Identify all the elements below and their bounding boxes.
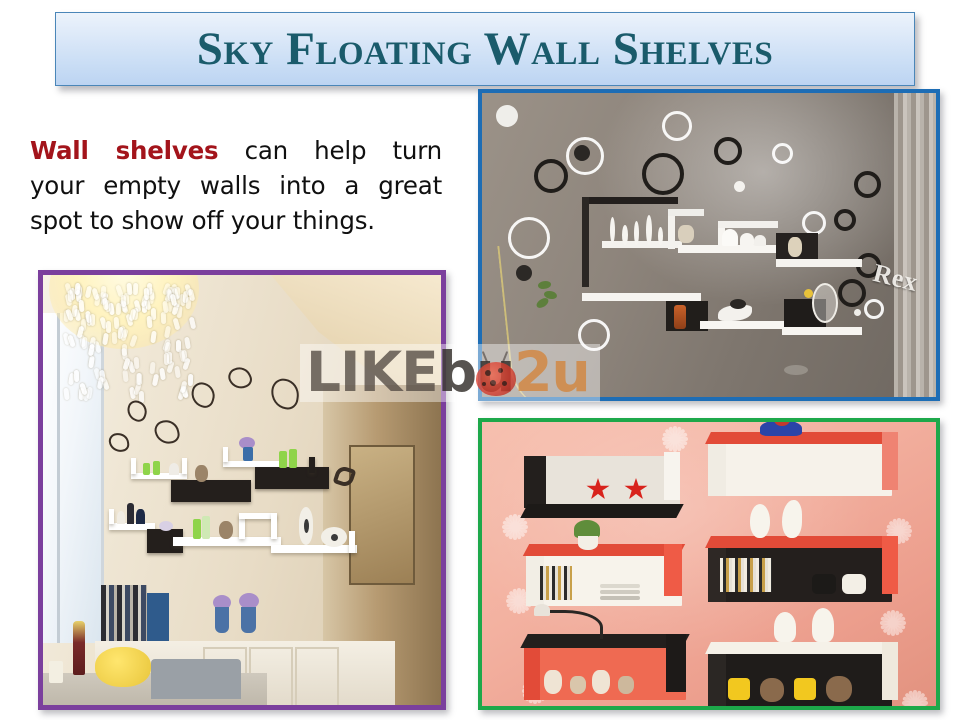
- chandelier-crystals: [61, 283, 197, 395]
- photo-gray-circle-wall-shelves: Rex: [478, 89, 940, 401]
- pink-wall-scene: [482, 422, 936, 706]
- photo-beige-dining-room-wall-shelves: [38, 270, 446, 710]
- gray-wall-scene: Rex: [482, 93, 936, 397]
- dining-room-scene: [43, 275, 441, 705]
- title-banner: Sky Floating Wall Shelves: [55, 12, 915, 86]
- paragraph-line-3: spot to show off your things.: [30, 204, 442, 239]
- page-title: Sky Floating Wall Shelves: [197, 26, 774, 73]
- paragraph-highlight: Wall shelves: [30, 136, 218, 165]
- paragraph-line-2: your empty walls into a great: [30, 169, 442, 204]
- paragraph-line-1: Wall shelves can help turn: [30, 134, 442, 169]
- photo-pink-flower-wall-box-shelves: [478, 418, 940, 710]
- intro-paragraph: Wall shelves can help turn your empty wa…: [30, 134, 442, 238]
- paragraph-line-1-rest: can help turn: [245, 136, 442, 165]
